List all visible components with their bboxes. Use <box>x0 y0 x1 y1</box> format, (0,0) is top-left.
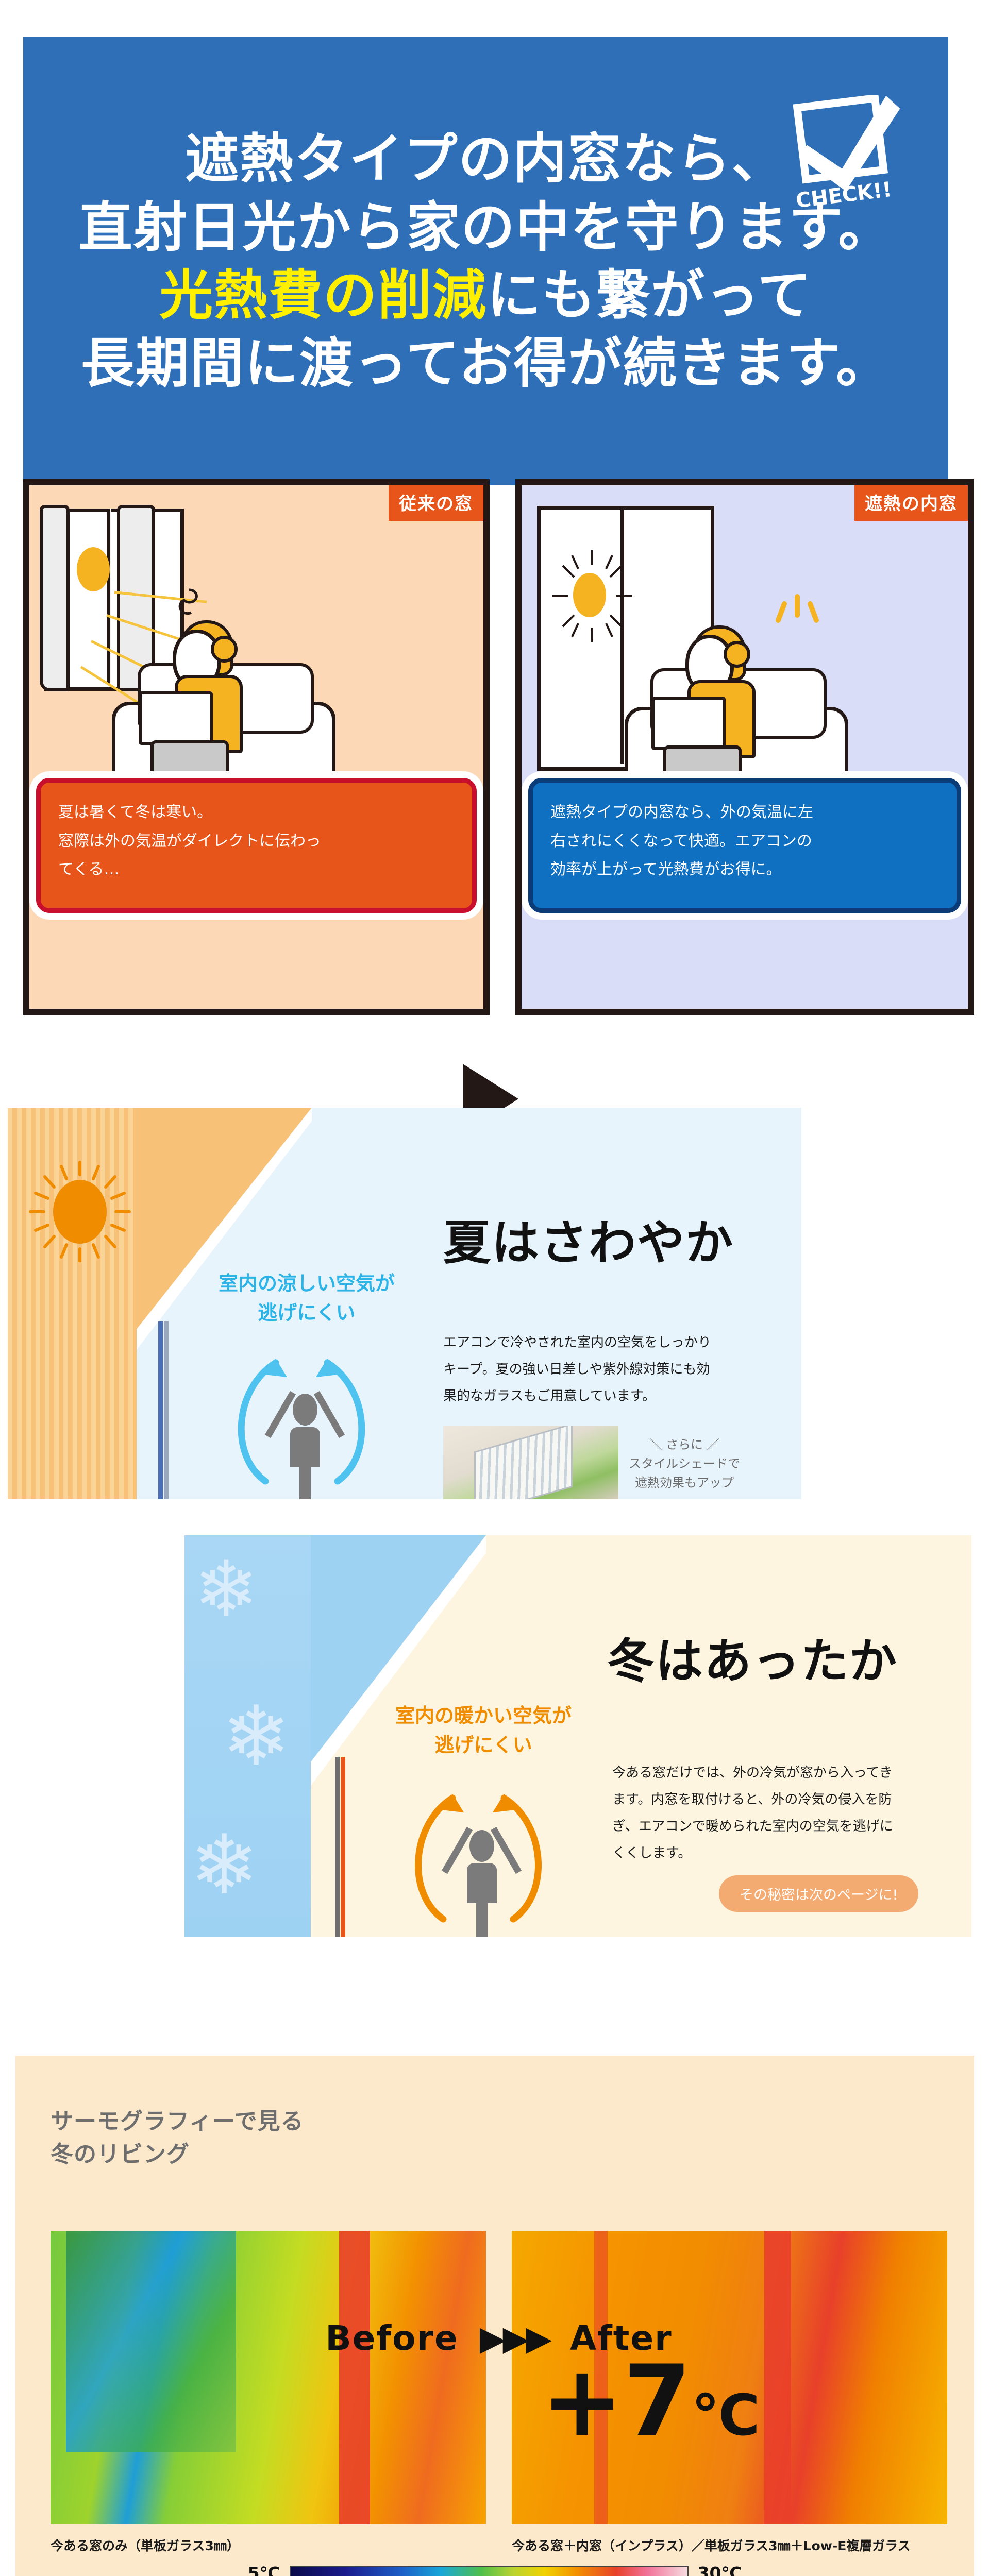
summer-subtitle: 室内の涼しい空気が 逃げにくい <box>204 1269 410 1328</box>
person-torso <box>467 1863 497 1903</box>
sun-rays-icon <box>548 547 636 645</box>
bubble-conventional-text: 夏は暑くて冬は寒い。 窓際は外の気温がダイレクトに伝わっ てくる… <box>58 803 321 878</box>
thermal-warm-strip <box>339 2231 370 2524</box>
summer-title: 夏はさわやか <box>443 1205 734 1273</box>
bubble-heatshield: 遮熱タイプの内窓なら、外の気温に左 右されにくくなって快適。エアコンの 効率が上… <box>528 778 961 913</box>
delta-value: +7 <box>541 2344 691 2458</box>
thermography-image-grid: Before ▶▶▶ After <box>51 2231 947 2524</box>
snowflake-icon: ❄ <box>194 1551 259 1628</box>
curtain-left <box>40 505 70 691</box>
person-legs <box>476 1901 488 1937</box>
summer-panel: 夏はさわやか 室内の涼しい空気が 逃げにくい エアコンで冷やされた室内の空気をし… <box>8 1108 801 1499</box>
person-head-icon <box>293 1394 317 1426</box>
panel-conventional-window: 従来の窓 <box>23 479 490 1015</box>
temperature-scale: 5℃ 30℃ （サーモグラフィー撮影条件:室外温度0℃、室内温度20℃） <box>15 2563 974 2576</box>
person-head-icon <box>469 1830 494 1862</box>
thermal-warm-strip <box>764 2231 791 2524</box>
winter-body-text: 今ある窓だけでは、外の冷気が窓から入ってきます。内窓を取付けると、外の冷気の侵入… <box>612 1759 893 1867</box>
scale-gradient-bar <box>290 2566 689 2576</box>
winter-snow-band: ❄ ❄ ❄ <box>184 1535 311 1937</box>
sun-icon <box>28 1159 131 1262</box>
before-label: Before <box>325 2318 458 2358</box>
person-torso <box>290 1427 320 1467</box>
brochure-page: 遮熱タイプの内窓なら、 直射日光から家の中を守ります。 光熱費の削減にも繋がって… <box>0 0 990 2576</box>
temperature-delta: +7℃ <box>541 2344 760 2458</box>
scale-max-label: 30℃ <box>698 2563 742 2576</box>
caption-before: 今ある窓のみ（単板ガラス3㎜） <box>51 2536 240 2554</box>
hero-highlight: 光熱費の削減 <box>159 264 487 327</box>
sweat-icon <box>174 586 205 622</box>
person-book <box>139 691 213 745</box>
hero-line-3: 光熱費の削減にも繋がって <box>159 266 812 325</box>
illustration-heatshield-room <box>522 485 968 1009</box>
thermography-section: サーモグラフィーで見る 冬のリビング Before ▶▶▶ After +7℃ … <box>15 2056 974 2576</box>
person-hair-bun <box>724 641 750 668</box>
window-mullion-left <box>107 509 111 684</box>
snowflake-icon: ❄ <box>222 1695 291 1777</box>
person-book <box>651 697 726 750</box>
sun-glyph-left <box>77 547 110 591</box>
winter-title: 冬はあったか <box>607 1623 898 1691</box>
style-shade-note: ＼ さらに ／ スタイルシェードで 遮熱効果もアップ <box>629 1435 740 1493</box>
shade-awning <box>474 1426 573 1499</box>
winter-panel: ❄ ❄ ❄ 冬はあったか 室内の暖かい空気が 逃げにくい 今ある窓だけでは、外の… <box>184 1535 971 1937</box>
scale-min-label: 5℃ <box>248 2563 280 2576</box>
thermography-title: サーモグラフィーで見る 冬のリビング <box>51 2105 304 2171</box>
thermal-image-before <box>51 2231 486 2524</box>
comparison-section: 従来の窓 <box>0 479 990 1046</box>
hero-line-2: 直射日光から家の中を守ります。 <box>79 198 893 257</box>
bubble-conventional: 夏は暑くて冬は寒い。 窓際は外の気温がダイレクトに伝わっ てくる… <box>36 778 477 913</box>
snowflake-icon: ❄ <box>190 1824 259 1906</box>
bubble-heatshield-text: 遮熱タイプの内窓なら、外の気温に左 右されにくくなって快適。エアコンの 効率が上… <box>550 803 813 878</box>
panel-heatshield-window: 遮熱の内窓 <box>515 479 974 1015</box>
triple-arrow-icon: ▶▶▶ <box>480 2318 549 2358</box>
style-shade-photo <box>443 1426 618 1499</box>
person-legs <box>299 1465 311 1499</box>
hero-line-4: 長期間に渡ってお得が続きます。 <box>81 334 891 393</box>
sparkle-icon <box>769 588 826 630</box>
badge-heatshield: 遮熱の内窓 <box>854 485 968 521</box>
badge-conventional: 従来の窓 <box>389 485 483 521</box>
hero-line-1: 遮熱タイプの内窓なら、 <box>185 129 786 188</box>
illustration-conventional-room <box>29 485 483 1009</box>
check-box-icon: CHECK!! <box>782 95 911 208</box>
next-page-button[interactable]: その秘密は次のページに! <box>719 1875 918 1912</box>
winter-window-frame-bar <box>335 1757 340 1937</box>
before-after-label: Before ▶▶▶ After <box>51 2318 947 2358</box>
winter-subtitle: 室内の暖かい空気が 逃げにくい <box>375 1701 592 1760</box>
caption-after: 今ある窓＋内窓（インプラス）／単板ガラス3㎜＋Low-E複層ガラス <box>512 2536 911 2554</box>
summer-body-text: エアコンで冷やされた室内の空気をしっかりキープ。夏の強い日差しや紫外線対策にも効… <box>443 1329 711 1410</box>
scale-row: 5℃ 30℃ <box>248 2563 742 2576</box>
winter-inner-frame-bar <box>341 1757 345 1937</box>
hero-banner: 遮熱タイプの内窓なら、 直射日光から家の中を守ります。 光熱費の削減にも繋がって… <box>23 37 948 485</box>
summer-inner-frame-bar <box>164 1321 169 1499</box>
hero-line-3-rest: にも繋がって <box>487 264 812 327</box>
person-hair-bun <box>211 636 238 663</box>
summer-window-frame-bar <box>158 1321 163 1499</box>
delta-unit: ℃ <box>691 2382 760 2448</box>
